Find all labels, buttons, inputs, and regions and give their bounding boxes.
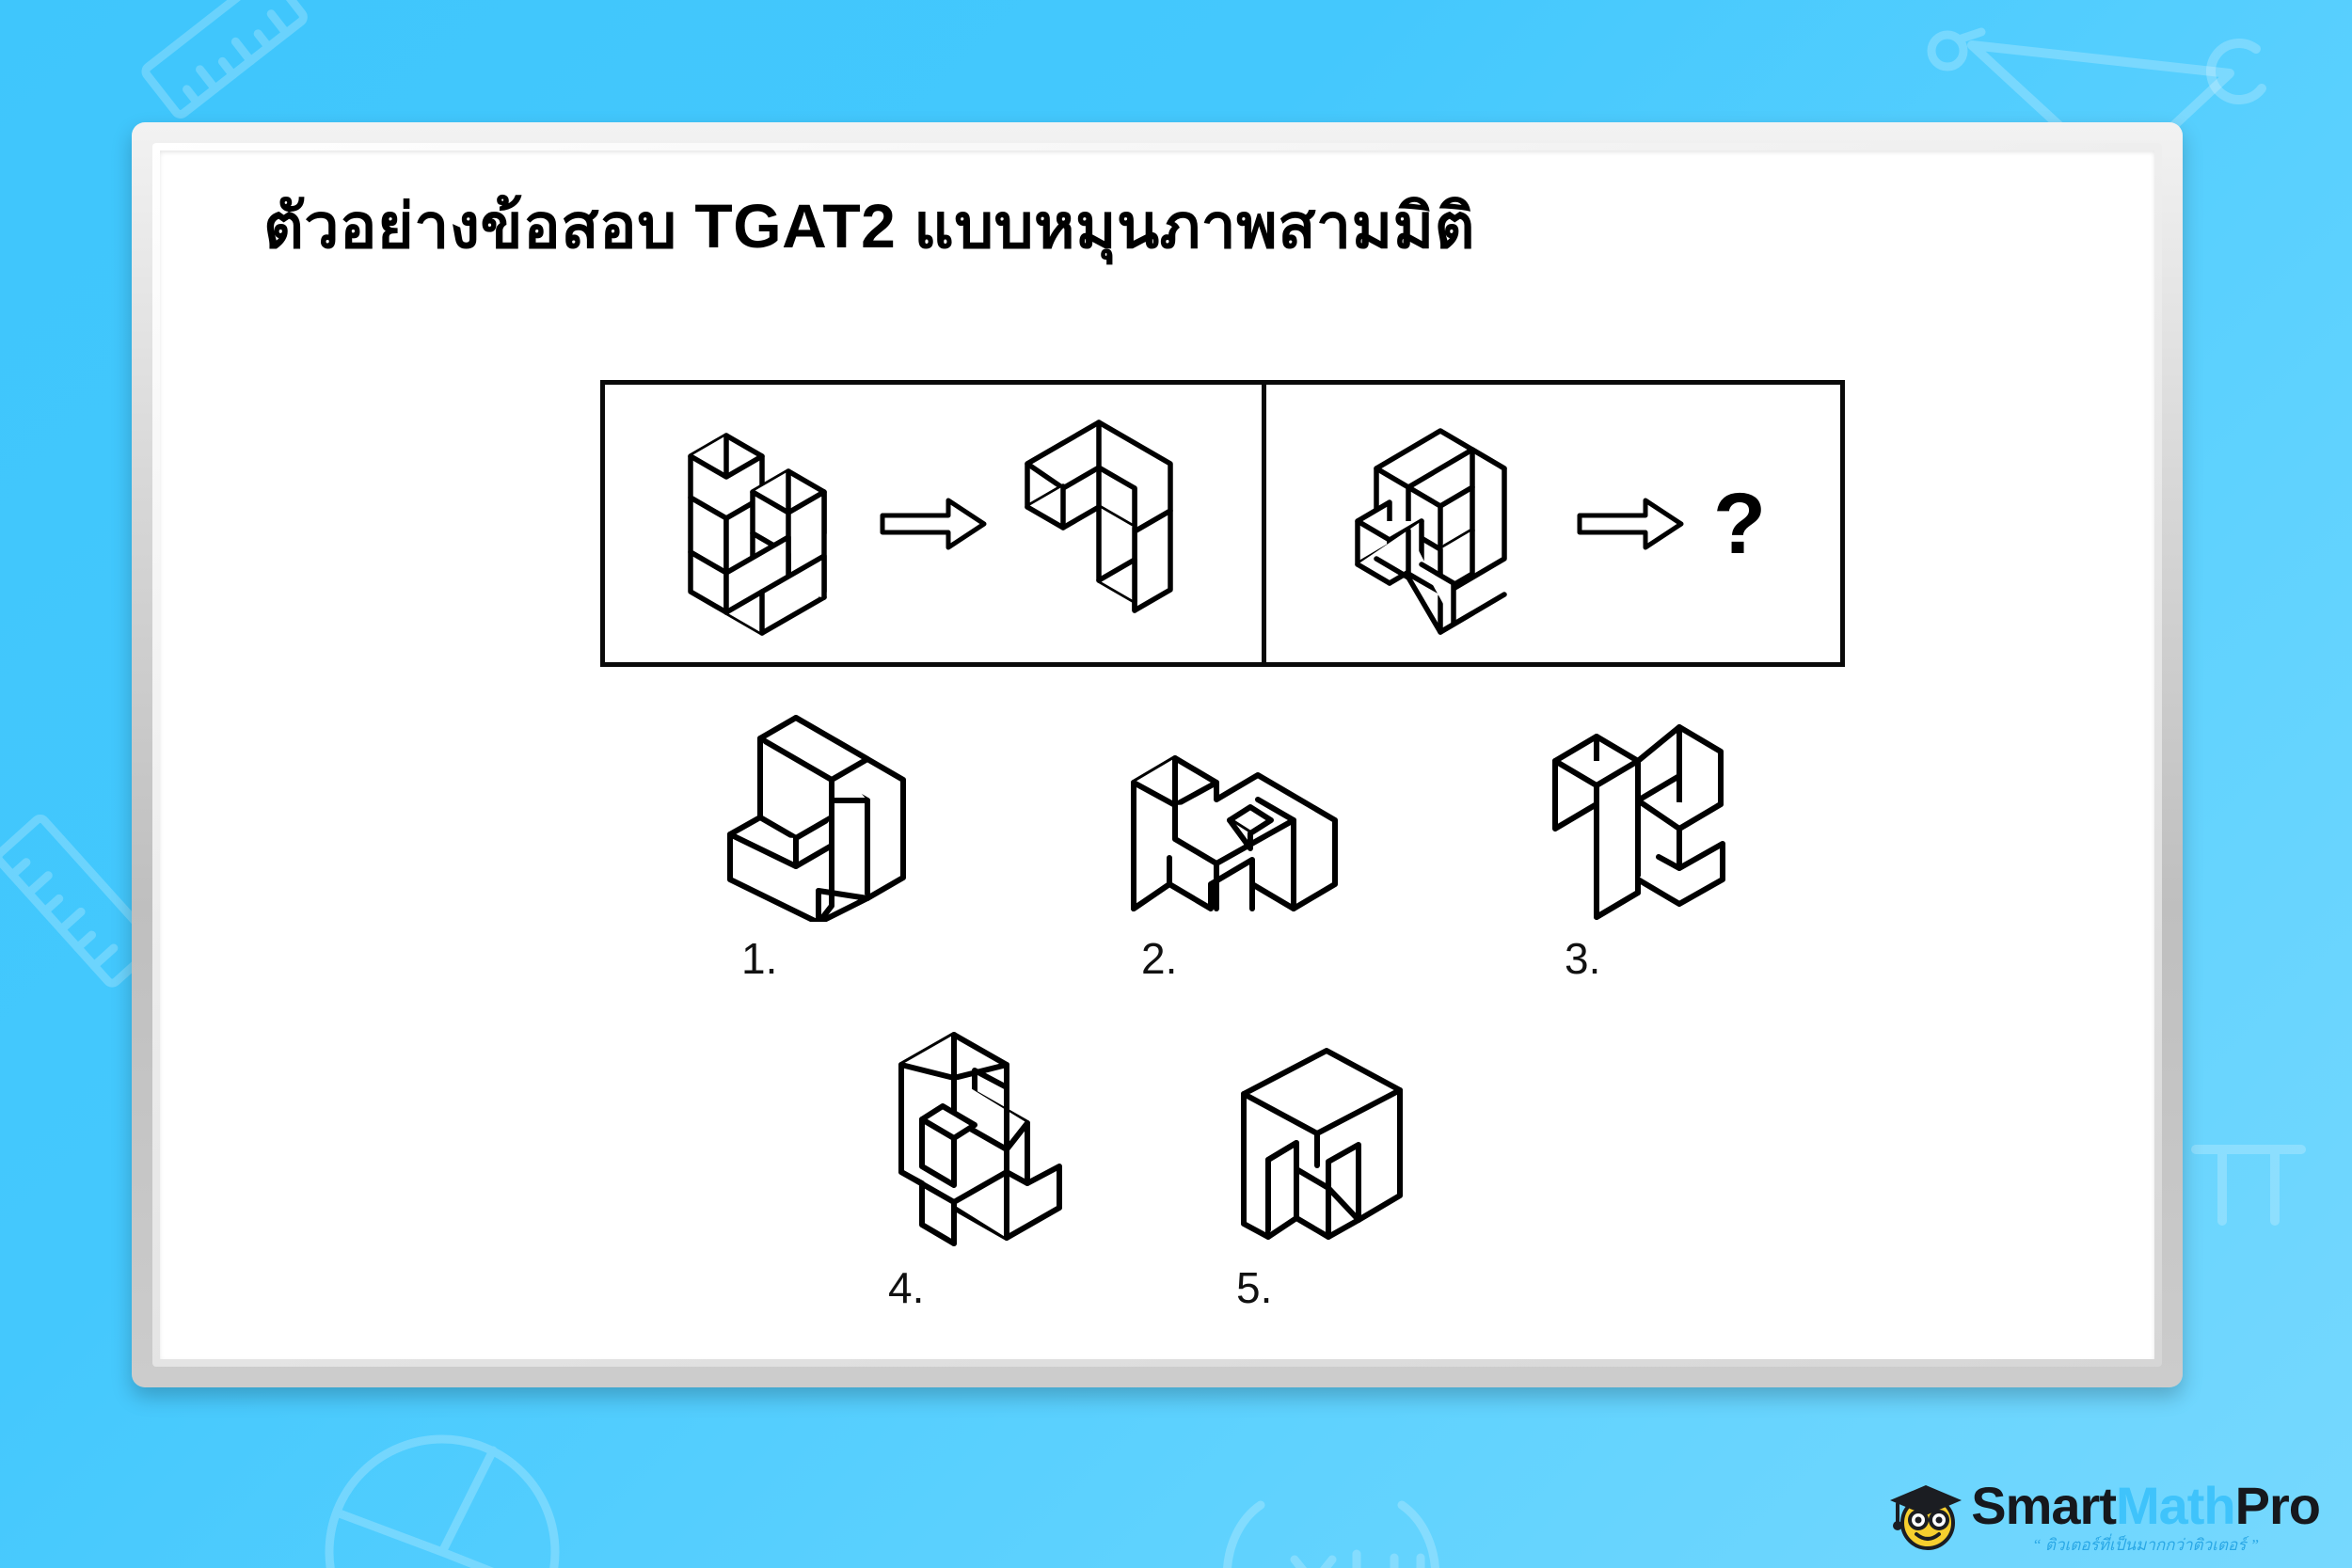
choices-row-2: 4. xyxy=(884,1035,1411,1313)
choice-5-label: 5. xyxy=(1236,1262,1272,1313)
3d-block-figure-question xyxy=(1341,406,1548,641)
rotation-arrow xyxy=(877,491,990,557)
logo-tagline: “ ติวเตอร์ที่เป็นมากกว่าติวเตอร์ ” xyxy=(2032,1537,2259,1553)
logo-wordmark: SmartMathPro xyxy=(1971,1480,2320,1532)
whiteboard-surface: ตัวอย่างข้อสอบ TGAT2 แบบหมุนภาพสามมิติ xyxy=(160,150,2154,1359)
pi-doodle-right xyxy=(2154,1082,2343,1270)
rotation-arrow xyxy=(1574,491,1687,557)
question-box: ? xyxy=(600,380,1845,667)
angle-glyph-doodle xyxy=(1910,9,1994,94)
choice-1-label: 1. xyxy=(741,933,777,984)
choice-4-label: 4. xyxy=(888,1262,924,1313)
choice-2[interactable]: 2. xyxy=(1124,705,1345,984)
3d-block-choice-4 xyxy=(884,1025,1073,1251)
expression-doodle-bottom xyxy=(1195,1486,1496,1568)
choice-5[interactable]: 5. xyxy=(1232,1035,1411,1313)
page-title: ตัวอย่างข้อสอบ TGAT2 แบบหมุนภาพสามมิติ xyxy=(263,177,1475,276)
choice-2-label: 2. xyxy=(1141,933,1177,984)
choice-1-figure-wrap xyxy=(724,705,922,922)
slide-canvas: ตัวอย่างข้อสอบ TGAT2 แบบหมุนภาพสามมิติ xyxy=(0,0,2352,1568)
choice-4[interactable]: 4. xyxy=(884,1035,1073,1313)
choice-3-label: 3. xyxy=(1565,933,1600,984)
choice-2-figure-wrap xyxy=(1124,705,1345,922)
arc-glyph-doodle xyxy=(2192,26,2286,120)
3d-block-choice-5 xyxy=(1232,1039,1411,1251)
choice-4-figure-wrap xyxy=(884,1035,1073,1251)
logo-word-smart: Smart xyxy=(1971,1476,2116,1535)
3d-block-choice-1 xyxy=(724,710,922,922)
logo-word-pro: Pro xyxy=(2235,1476,2320,1535)
brand-logo[interactable]: SmartMathPro “ ติวเตอร์ที่เป็นมากกว่าติว… xyxy=(1884,1480,2320,1553)
choices-row-1: 1. xyxy=(724,705,1750,984)
choice-3-figure-wrap xyxy=(1548,705,1750,922)
choice-3[interactable]: 3. xyxy=(1548,705,1750,984)
whiteboard-frame: ตัวอย่างข้อสอบ TGAT2 แบบหมุนภาพสามมิติ xyxy=(132,122,2183,1387)
problem-cell: ? xyxy=(1266,385,1840,662)
3d-block-choice-3 xyxy=(1548,710,1750,922)
circle-compass-doodle-bottom-left xyxy=(292,1411,630,1568)
3d-block-figure-rotated xyxy=(1007,411,1195,637)
example-cell xyxy=(605,385,1266,662)
choice-1[interactable]: 1. xyxy=(724,705,922,984)
unknown-marker: ? xyxy=(1713,481,1766,567)
logo-text-block: SmartMathPro “ ติวเตอร์ที่เป็นมากกว่าติว… xyxy=(1971,1480,2320,1553)
3d-block-choice-2 xyxy=(1124,743,1345,922)
whiteboard-bevel: ตัวอย่างข้อสอบ TGAT2 แบบหมุนภาพสามมิติ xyxy=(152,143,2162,1367)
choice-5-figure-wrap xyxy=(1232,1035,1411,1251)
3d-block-figure-source xyxy=(672,411,860,637)
graduate-face-icon xyxy=(1884,1480,1965,1553)
logo-word-math: Math xyxy=(2116,1476,2235,1535)
